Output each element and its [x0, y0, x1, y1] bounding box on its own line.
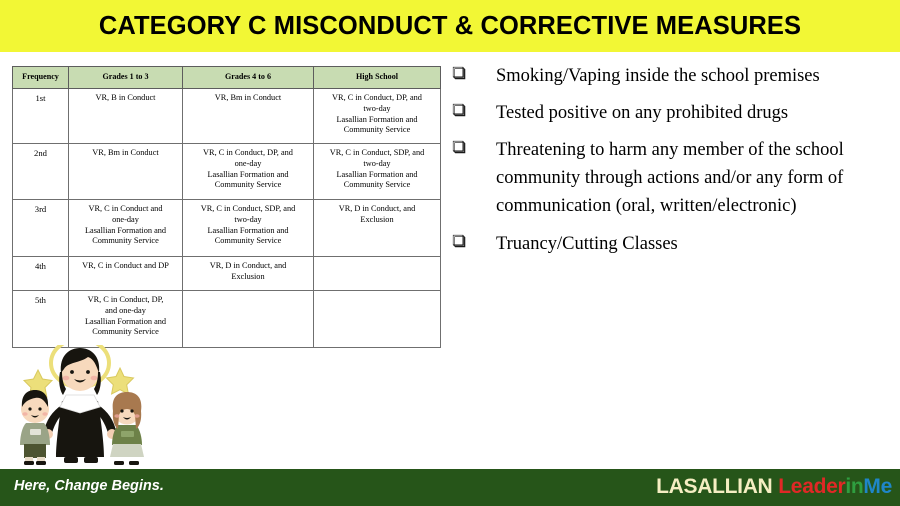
- footer-band: Here, Change Begins. LASALLIAN LeaderinM…: [0, 469, 900, 506]
- square-bullet-icon: ❑: [452, 136, 496, 158]
- misconduct-corrective-measures-table: Frequency Grades 1 to 3 Grades 4 to 6 Hi…: [12, 66, 441, 348]
- footer-tagline: Here, Change Begins.: [14, 478, 164, 494]
- column-header-high-school: High School: [314, 67, 441, 89]
- list-item-label: Truancy/Cutting Classes: [496, 230, 890, 258]
- slide-title-band: CATEGORY C MISCONDUCT & CORRECTIVE MEASU…: [0, 0, 900, 52]
- square-bullet-icon: ❑: [452, 99, 496, 121]
- cell-grades-1-to-3: VR, B in Conduct: [69, 88, 183, 143]
- list-item-label: Tested positive on any prohibited drugs: [496, 99, 890, 127]
- cell-grades-4-to-6: VR, C in Conduct, DP, andone-dayLasallia…: [183, 143, 314, 199]
- cell-grades-4-to-6: VR, Bm in Conduct: [183, 88, 314, 143]
- cell-frequency: 1st: [13, 88, 69, 143]
- cell-grades-1-to-3: VR, C in Conduct andone-dayLasallian For…: [69, 199, 183, 256]
- cell-frequency: 2nd: [13, 143, 69, 199]
- cell-grades-1-to-3: VR, C in Conduct and DP: [69, 256, 183, 290]
- list-item: ❑Threatening to harm any member of the s…: [452, 136, 890, 220]
- star-icon-right: [107, 368, 134, 394]
- brand-word-leader: Leader: [778, 475, 845, 498]
- brand-word-in: in: [845, 475, 863, 498]
- column-header-grades-4-to-6: Grades 4 to 6: [183, 67, 314, 89]
- cell-high-school: VR, C in Conduct, SDP, andtwo-dayLasalli…: [314, 143, 441, 199]
- cell-high-school: VR, C in Conduct, DP, andtwo-dayLasallia…: [314, 88, 441, 143]
- boy-figure: [20, 390, 50, 465]
- lasallian-leader-in-me-logo: LASALLIAN LeaderinMe: [656, 474, 892, 500]
- list-item: ❑Tested positive on any prohibited drugs: [452, 99, 890, 127]
- lasallian-brother-and-children-illustration: [8, 345, 168, 472]
- table-row: 1stVR, B in ConductVR, Bm in ConductVR, …: [13, 88, 441, 143]
- column-header-frequency: Frequency: [13, 67, 69, 89]
- page-title: CATEGORY C MISCONDUCT & CORRECTIVE MEASU…: [99, 12, 801, 41]
- cell-grades-1-to-3: VR, Bm in Conduct: [69, 143, 183, 199]
- table-row: 5thVR, C in Conduct, DP,and one-dayLasal…: [13, 290, 441, 347]
- square-bullet-icon: ❑: [452, 62, 496, 84]
- cell-high-school: [314, 256, 441, 290]
- cell-grades-4-to-6: VR, C in Conduct, SDP, andtwo-dayLasalli…: [183, 199, 314, 256]
- misconduct-bullet-list: ❑Smoking/Vaping inside the school premis…: [452, 62, 890, 267]
- cell-grades-4-to-6: [183, 290, 314, 347]
- list-item: ❑Truancy/Cutting Classes: [452, 230, 890, 258]
- cell-grades-1-to-3: VR, C in Conduct, DP,and one-dayLasallia…: [69, 290, 183, 347]
- square-bullet-icon: ❑: [452, 230, 496, 252]
- cell-frequency: 4th: [13, 256, 69, 290]
- column-header-grades-1-to-3: Grades 1 to 3: [69, 67, 183, 89]
- cell-frequency: 3rd: [13, 199, 69, 256]
- brand-word-me: Me: [863, 475, 892, 498]
- table-body: 1stVR, B in ConductVR, Bm in ConductVR, …: [13, 88, 441, 347]
- table-row: 3rdVR, C in Conduct andone-dayLasallian …: [13, 199, 441, 256]
- cell-high-school: [314, 290, 441, 347]
- table-row: 4thVR, C in Conduct and DPVR, D in Condu…: [13, 256, 441, 290]
- list-item: ❑Smoking/Vaping inside the school premis…: [452, 62, 890, 90]
- cell-frequency: 5th: [13, 290, 69, 347]
- cell-grades-4-to-6: VR, D in Conduct, andExclusion: [183, 256, 314, 290]
- list-item-label: Smoking/Vaping inside the school premise…: [496, 62, 890, 90]
- brand-word-lasallian: LASALLIAN: [656, 475, 772, 498]
- table-row: 2ndVR, Bm in ConductVR, C in Conduct, DP…: [13, 143, 441, 199]
- list-item-label: Threatening to harm any member of the sc…: [496, 136, 890, 220]
- table-header-row: Frequency Grades 1 to 3 Grades 4 to 6 Hi…: [13, 67, 441, 89]
- cell-high-school: VR, D in Conduct, andExclusion: [314, 199, 441, 256]
